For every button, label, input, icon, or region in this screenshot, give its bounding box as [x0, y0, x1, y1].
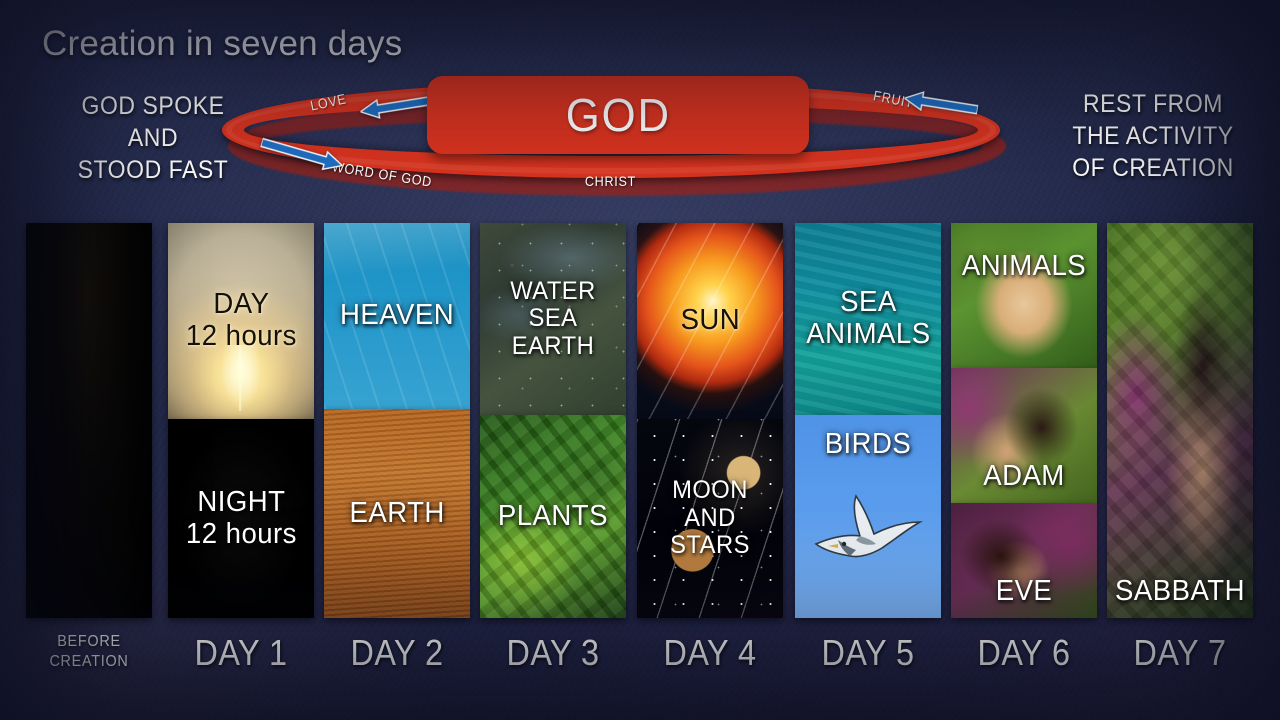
day-panel-2-0[interactable]: HEAVEN	[324, 223, 470, 409]
day-column-0[interactable]: BEFORE CREATION	[26, 223, 152, 618]
day-panel-0-0[interactable]	[26, 223, 152, 618]
panel-artwork-art-void	[26, 223, 152, 618]
day-column-1[interactable]: DAY 12 hoursNIGHT 12 hoursDAY 1	[168, 223, 314, 618]
day-column-3[interactable]: WATER SEA EARTHPLANTSDAY 3	[480, 223, 626, 618]
panel-caption: BIRDS	[799, 429, 938, 461]
panel-caption: ADAM	[955, 461, 1094, 493]
day-panel-2-1[interactable]: EARTH	[324, 409, 470, 618]
panel-artwork-art-sabbath	[1107, 223, 1253, 618]
day-label-6: DAY 6	[958, 632, 1089, 674]
day-column-4[interactable]: SUNMOON AND STARSDAY 4	[637, 223, 783, 618]
seagull-icon	[808, 488, 928, 570]
day-label-2: DAY 2	[331, 632, 462, 674]
panel-caption: WATER SEA EARTH	[507, 278, 598, 361]
panel-caption: NIGHT 12 hours	[183, 487, 300, 551]
panel-caption: MOON AND STARS	[667, 477, 753, 560]
day-panel-7-0[interactable]: SABBATH	[1107, 223, 1253, 618]
panel-caption: SUN	[677, 305, 742, 337]
day-label-5: DAY 5	[802, 632, 933, 674]
day-panel-4-1[interactable]: MOON AND STARS	[637, 419, 783, 618]
day-panel-3-0[interactable]: WATER SEA EARTH	[480, 223, 626, 415]
day-panel-3-1[interactable]: PLANTS	[480, 415, 626, 618]
panel-artwork-art-kitten	[951, 223, 1097, 368]
day-panel-1-1[interactable]: NIGHT 12 hours	[168, 419, 314, 618]
creation-days-columns: BEFORE CREATIONDAY 12 hoursNIGHT 12 hour…	[0, 0, 1280, 720]
panel-caption: ANIMALS	[955, 251, 1094, 283]
panel-caption: HEAVEN	[337, 300, 457, 332]
day-panel-6-1[interactable]: ADAM	[951, 368, 1097, 503]
day-label-0: BEFORE CREATION	[32, 632, 145, 672]
panel-caption: DAY 12 hours	[183, 289, 300, 353]
panel-caption: SEA ANIMALS	[803, 287, 933, 351]
day-panel-5-1[interactable]: BIRDS	[795, 415, 941, 618]
day-label-3: DAY 3	[487, 632, 618, 674]
panel-caption: PLANTS	[495, 501, 611, 533]
day-column-7[interactable]: SABBATHDAY 7	[1107, 223, 1253, 618]
day-column-2[interactable]: HEAVENEARTHDAY 2	[324, 223, 470, 618]
panel-caption: EARTH	[347, 498, 448, 530]
day-label-1: DAY 1	[175, 632, 306, 674]
day-panel-5-0[interactable]: SEA ANIMALS	[795, 223, 941, 415]
panel-caption: EVE	[955, 576, 1094, 608]
day-panel-6-0[interactable]: ANIMALS	[951, 223, 1097, 368]
day-column-6[interactable]: ANIMALSADAMEVEDAY 6	[951, 223, 1097, 618]
day-panel-6-2[interactable]: EVE	[951, 503, 1097, 618]
day-panel-4-0[interactable]: SUN	[637, 223, 783, 419]
panel-caption: SABBATH	[1111, 576, 1250, 608]
day-column-5[interactable]: SEA ANIMALSBIRDSDAY 5	[795, 223, 941, 618]
day-label-7: DAY 7	[1114, 632, 1245, 674]
infographic-stage: Creation in seven days GOD SPOKE AND STO…	[0, 0, 1280, 720]
day-panel-1-0[interactable]: DAY 12 hours	[168, 223, 314, 419]
day-label-4: DAY 4	[644, 632, 775, 674]
